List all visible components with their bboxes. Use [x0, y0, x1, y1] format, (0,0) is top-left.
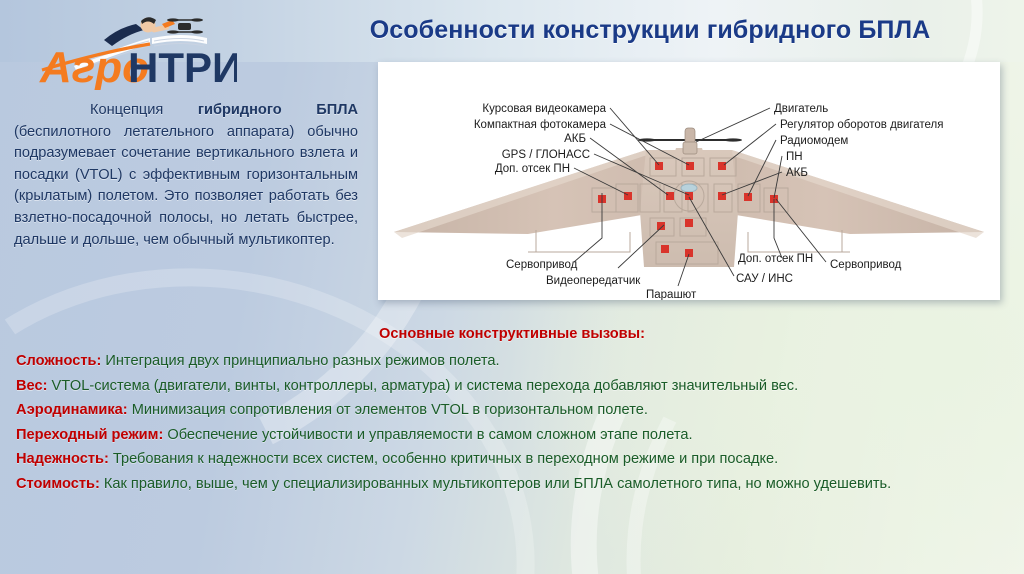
- label-group-right: Двигатель Регулятор оборотов двигателя Р…: [774, 103, 944, 179]
- challenge-term: Переходный режим:: [16, 427, 163, 443]
- challenge-text: Интеграция двух принципиально разных реж…: [101, 353, 499, 369]
- challenge-item: Сложность: Интеграция двух принципиально…: [16, 349, 1010, 374]
- challenge-item: Стоимость: Как правило, выше, чем у спец…: [16, 472, 1010, 497]
- challenge-term: Надежность:: [16, 451, 109, 467]
- diagram-label: Регулятор оборотов двигателя: [780, 119, 944, 131]
- challenge-term: Вес:: [16, 378, 47, 394]
- diagram-label: Парашют: [646, 289, 697, 300]
- challenge-term: Аэродинамика:: [16, 402, 128, 418]
- page-title: Особенности конструкции гибридного БПЛА: [290, 16, 1010, 45]
- challenge-item: Вес: VTOL-система (двигатели, винты, кон…: [16, 374, 1010, 399]
- intro-bold-term: гибридного БПЛА: [198, 102, 358, 118]
- logo-text-ntri: НТРИ: [128, 44, 237, 90]
- diagram-label: Доп. отсек ПН: [738, 253, 813, 265]
- diagram-label: Сервопривод: [506, 259, 578, 271]
- diagram-label: АКБ: [564, 133, 586, 145]
- diagram-label: АКБ: [786, 167, 808, 179]
- intro-rest: (беспилотного летательного аппарата) обы…: [14, 124, 358, 248]
- diagram-label: Двигатель: [774, 103, 828, 115]
- intro-lead: Концепция: [90, 102, 198, 118]
- challenge-text: Минимизация сопротивления от элементов V…: [128, 402, 648, 418]
- diagram-label: Сервопривод: [830, 259, 902, 271]
- diagram-label: Видеопередатчик: [546, 275, 641, 287]
- drone-icon: [167, 18, 203, 33]
- agrontri-logo: Агро НТРИ: [32, 8, 237, 90]
- label-group-left: Курсовая видеокамера Компактная фотокаме…: [474, 103, 607, 175]
- challenge-item: Аэродинамика: Минимизация сопротивления …: [16, 398, 1010, 423]
- challenge-text: Обеспечение устойчивости и управляемости…: [163, 427, 692, 443]
- slide-root: Особенности конструкции гибридного БПЛА: [0, 0, 1024, 574]
- challenges-list: Сложность: Интеграция двух принципиально…: [0, 349, 1024, 497]
- diagram-label: Курсовая видеокамера: [482, 103, 606, 115]
- diagram-label: GPS / ГЛОНАСС: [502, 149, 590, 161]
- diagram-label: Компактная фотокамера: [474, 119, 607, 131]
- challenges-section: Основные конструктивные вызовы: Сложност…: [0, 326, 1024, 497]
- hybrid-uav-layout-diagram: Курсовая видеокамера Компактная фотокаме…: [378, 62, 1000, 300]
- diagram-label: Радиомодем: [780, 135, 848, 147]
- challenge-text: Как правило, выше, чем у специализирован…: [100, 476, 891, 492]
- diagram-label: САУ / ИНС: [736, 273, 793, 285]
- diagram-label: Доп. отсек ПН: [495, 163, 570, 175]
- intro-paragraph: Концепция гибридного БПЛА (беспилотного …: [14, 100, 358, 251]
- challenge-term: Стоимость:: [16, 476, 100, 492]
- challenge-text: Требования к надежности всех систем, осо…: [109, 451, 778, 467]
- challenges-heading: Основные конструктивные вызовы:: [0, 326, 1024, 342]
- diagram-label: ПН: [786, 151, 803, 163]
- challenge-item: Надежность: Требования к надежности всех…: [16, 447, 1010, 472]
- challenge-term: Сложность:: [16, 353, 101, 369]
- challenge-item: Переходный режим: Обеспечение устойчивос…: [16, 423, 1010, 448]
- challenge-text: VTOL-система (двигатели, винты, контролл…: [47, 378, 798, 394]
